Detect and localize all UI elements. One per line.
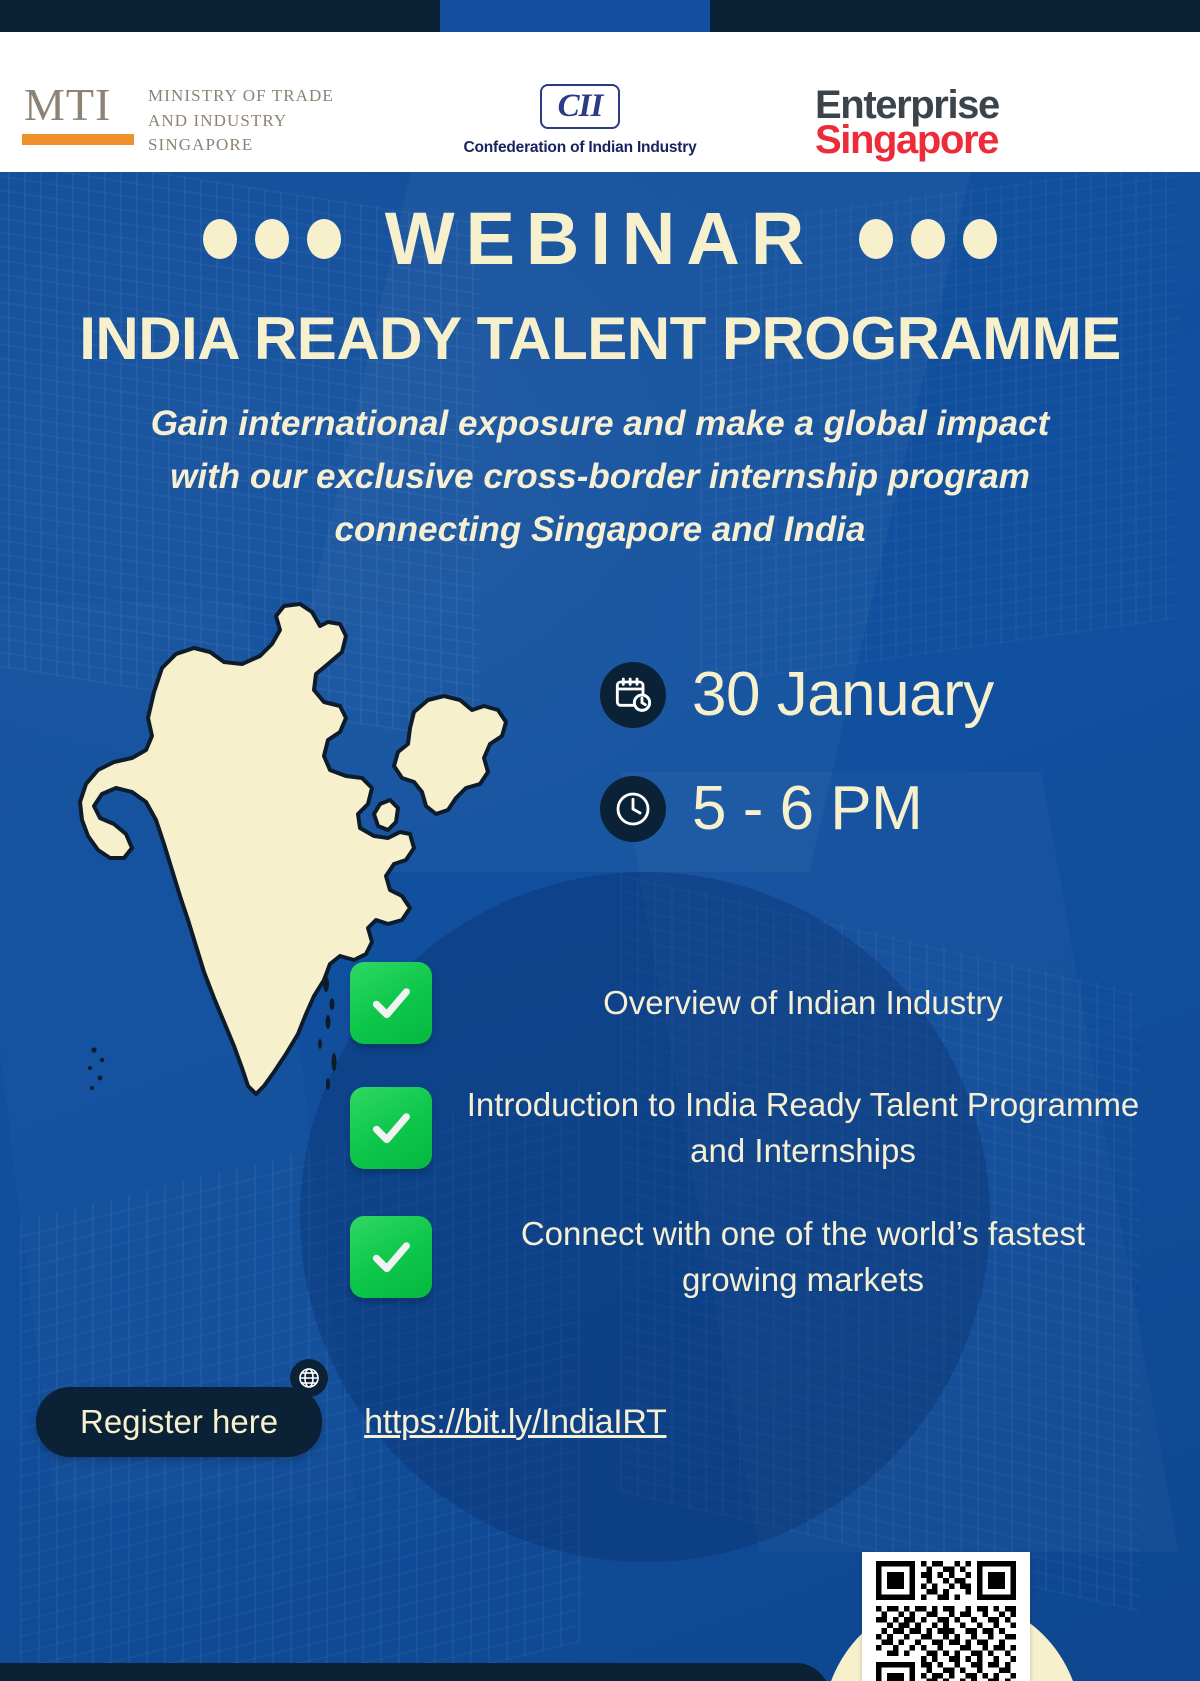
agenda-list: Overview of Indian Industry Introduction… [350,962,1140,1340]
mti-orange-rule [22,134,134,145]
poster-body: WEBINAR INDIA READY TALENT PROGRAMME Gai… [0,172,1200,1681]
agenda-text: Overview of Indian Industry [466,980,1140,1026]
mti-line-3: SINGAPORE [148,133,334,158]
agenda-text: Connect with one of the world’s fastest … [466,1211,1140,1302]
webinar-poster: MTI MINISTRY OF TRADE AND INDUSTRY SINGA… [0,0,1200,1681]
footer-bar: Queries: colleen.tan@cii.in [0,1663,830,1681]
dots-left [203,219,341,259]
decorative-dot [255,219,289,259]
mti-line-1: MINISTRY OF TRADE [148,84,334,109]
decorative-dot [911,219,945,259]
dots-right [859,219,997,259]
decorative-dot [307,219,341,259]
enterprise-singapore-logo: Enterprise Singapore [815,86,999,159]
decorative-dot [963,219,997,259]
globe-icon [290,1359,328,1397]
cii-mark: CII [558,89,603,124]
cii-logo: CII Confederation of Indian Industry [430,84,730,157]
event-date: 30 January [692,664,994,726]
clock-icon [600,776,666,842]
logo-band: MTI MINISTRY OF TRADE AND INDUSTRY SINGA… [0,32,1200,172]
tagline: Gain international exposure and make a g… [90,397,1110,557]
qr-code-image [871,1561,1021,1681]
cii-caption: Confederation of Indian Industry [430,139,730,157]
registration-link[interactable]: https://bit.ly/IndiaIRT [364,1403,666,1442]
event-details: 30 January 5 - 6 PM [600,662,1160,890]
list-item: Overview of Indian Industry [350,962,1140,1044]
decorative-dot [203,219,237,259]
qr-code[interactable]: bitly [862,1552,1030,1681]
mti-wordmark: MINISTRY OF TRADE AND INDUSTRY SINGAPORE [148,82,334,158]
check-icon [350,962,432,1044]
decorative-dot [859,219,893,259]
event-time-row: 5 - 6 PM [600,776,1160,842]
top-strip [0,0,1200,32]
mti-line-2: AND INDUSTRY [148,109,334,134]
list-item: Connect with one of the world’s fastest … [350,1211,1140,1302]
webinar-header: WEBINAR [0,202,1200,276]
event-date-row: 30 January [600,662,1160,728]
check-icon [350,1087,432,1169]
event-time: 5 - 6 PM [692,778,922,840]
agenda-text: Introduction to India Ready Talent Progr… [466,1082,1140,1173]
tagline-line-3: connecting Singapore and India [90,503,1110,556]
register-button-label: Register here [80,1403,278,1440]
mti-logo: MTI MINISTRY OF TRADE AND INDUSTRY SINGA… [22,82,334,158]
calendar-clock-icon [600,662,666,728]
tagline-line-2: with our exclusive cross-border internsh… [90,450,1110,503]
check-icon [350,1216,432,1298]
register-button[interactable]: Register here [36,1387,322,1457]
tagline-line-1: Gain international exposure and make a g… [90,397,1110,450]
webinar-label: WEBINAR [385,202,816,276]
mti-mark: MTI [22,82,134,145]
page-title: INDIA READY TALENT PROGRAMME [0,307,1200,370]
registration-row: Register here https://bit.ly/IndiaIRT [36,1387,667,1457]
mti-letters: MTI [22,82,134,128]
top-strip-accent [440,0,710,32]
esg-line-singapore: Singapore [815,121,999,159]
cii-logo-box: CII [540,84,621,129]
list-item: Introduction to India Ready Talent Progr… [350,1082,1140,1173]
